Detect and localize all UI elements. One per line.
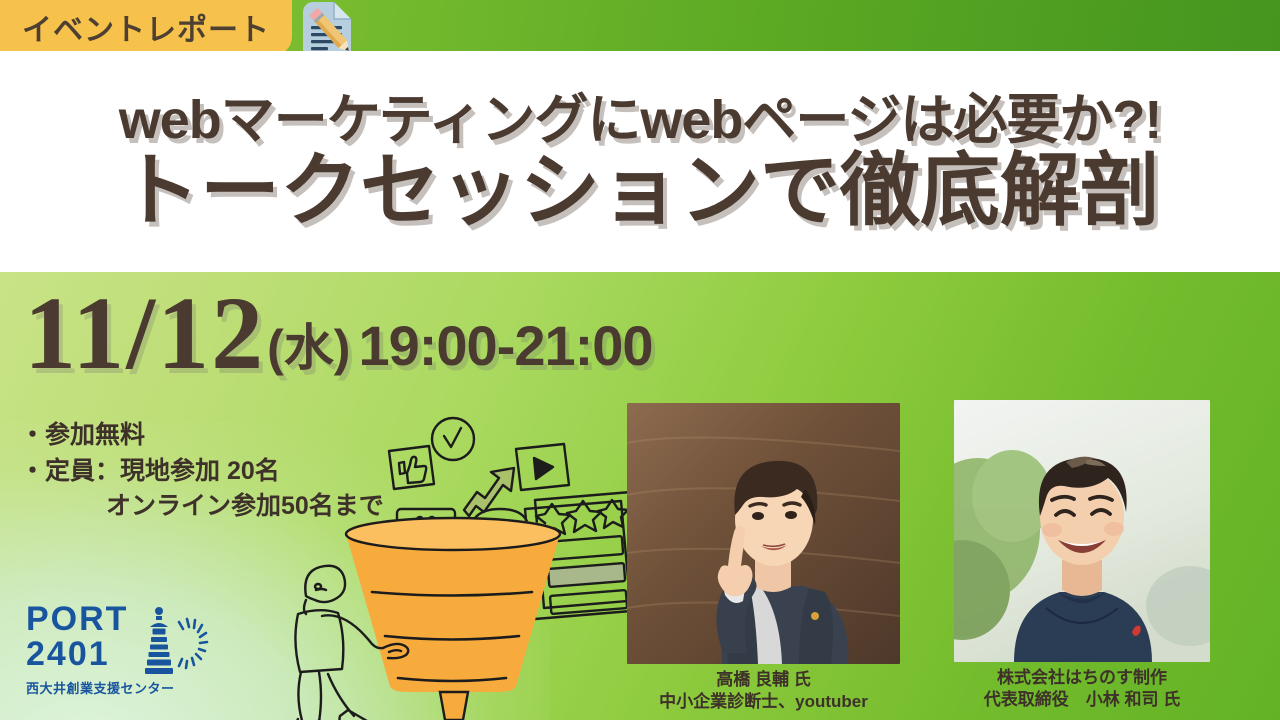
speaker-role-1: 中小企業診断士、youtuber: [627, 691, 900, 713]
speaker-caption-1: 高橋 良輔 氏 中小企業診断士、youtuber: [627, 669, 900, 713]
marketing-funnel-illustration: [288, 414, 638, 720]
event-report-badge: イベントレポート: [0, 0, 292, 55]
speaker-card-1: 高橋 良輔 氏 中小企業診断士、youtuber: [627, 403, 900, 713]
speaker-company-2: 株式会社はちのす制作: [954, 667, 1210, 689]
speaker-caption-2: 株式会社はちのす制作 代表取締役 小林 和司 氏: [954, 667, 1210, 711]
funnel-shape: [346, 518, 560, 720]
page-title-line-1: webマーケティングにwebページは必要か?!: [119, 93, 1162, 147]
speaker-photo-takahashi: [627, 403, 900, 664]
speaker-name-2: 代表取締役 小林 和司 氏: [954, 689, 1210, 711]
port2401-logo: PORT 2401 西大井創業支援センター: [26, 602, 216, 702]
event-date: 11/12: [24, 286, 265, 382]
thumbs-up-icon: [389, 446, 434, 489]
title-area: webマーケティングにwebページは必要か?! トークセッションで徹底解剖: [0, 51, 1280, 272]
speaker-card-2: 株式会社はちのす制作 代表取締役 小林 和司 氏: [954, 400, 1210, 711]
event-time: 19:00-21:00: [358, 318, 652, 382]
speaker-name-1: 高橋 良輔 氏: [627, 669, 900, 691]
lighthouse-icon: [136, 606, 216, 680]
event-body-section: 11/12 (水) 19:00-21:00 ・参加無料 ・定員：現地参加 20名…: [0, 272, 1280, 720]
page-title-line-2: トークセッションで徹底解剖: [120, 151, 1160, 231]
check-circle-icon: [432, 418, 474, 460]
event-report-badge-label: イベントレポート: [22, 5, 270, 49]
event-datetime: 11/12 (水) 19:00-21:00: [24, 286, 653, 382]
speaker-photo-kobayashi: [954, 400, 1210, 662]
logo-tagline: 西大井創業支援センター: [26, 678, 216, 697]
event-day-of-week: (水): [267, 323, 350, 382]
play-button-icon: [516, 444, 569, 490]
